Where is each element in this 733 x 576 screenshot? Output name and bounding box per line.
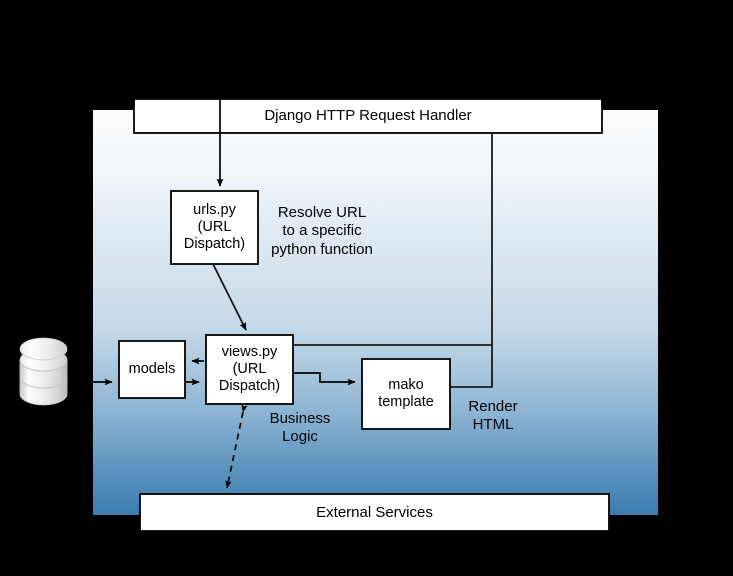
resolve-url-note: Resolve URL to a specific python functio…: [262, 204, 382, 259]
models-box[interactable]: [119, 341, 185, 398]
urls-py-box[interactable]: [171, 191, 258, 264]
resolve-url-note-line-3: python function: [262, 241, 382, 259]
resolve-url-note-line-1: Resolve URL: [262, 204, 382, 222]
external-services-box[interactable]: [140, 494, 609, 531]
diagram-graphics: [0, 0, 733, 576]
render-html-note-line-1: Render: [458, 398, 528, 416]
django-handler-box[interactable]: [134, 99, 602, 133]
business-logic-note: Business Logic: [254, 410, 346, 447]
diagram-canvas: Django HTTP Request Handler urls.py (URL…: [0, 0, 733, 576]
render-html-note: Render HTML: [458, 398, 528, 435]
resolve-url-note-line-2: to a specific: [262, 222, 382, 240]
database-cylinder[interactable]: [20, 338, 67, 405]
mako-template-box[interactable]: [362, 359, 450, 429]
views-py-box[interactable]: [206, 335, 293, 404]
render-html-note-line-2: HTML: [458, 416, 528, 434]
business-logic-note-line-1: Business: [254, 410, 346, 428]
django-request-panel: [93, 110, 658, 515]
business-logic-note-line-2: Logic: [254, 428, 346, 446]
